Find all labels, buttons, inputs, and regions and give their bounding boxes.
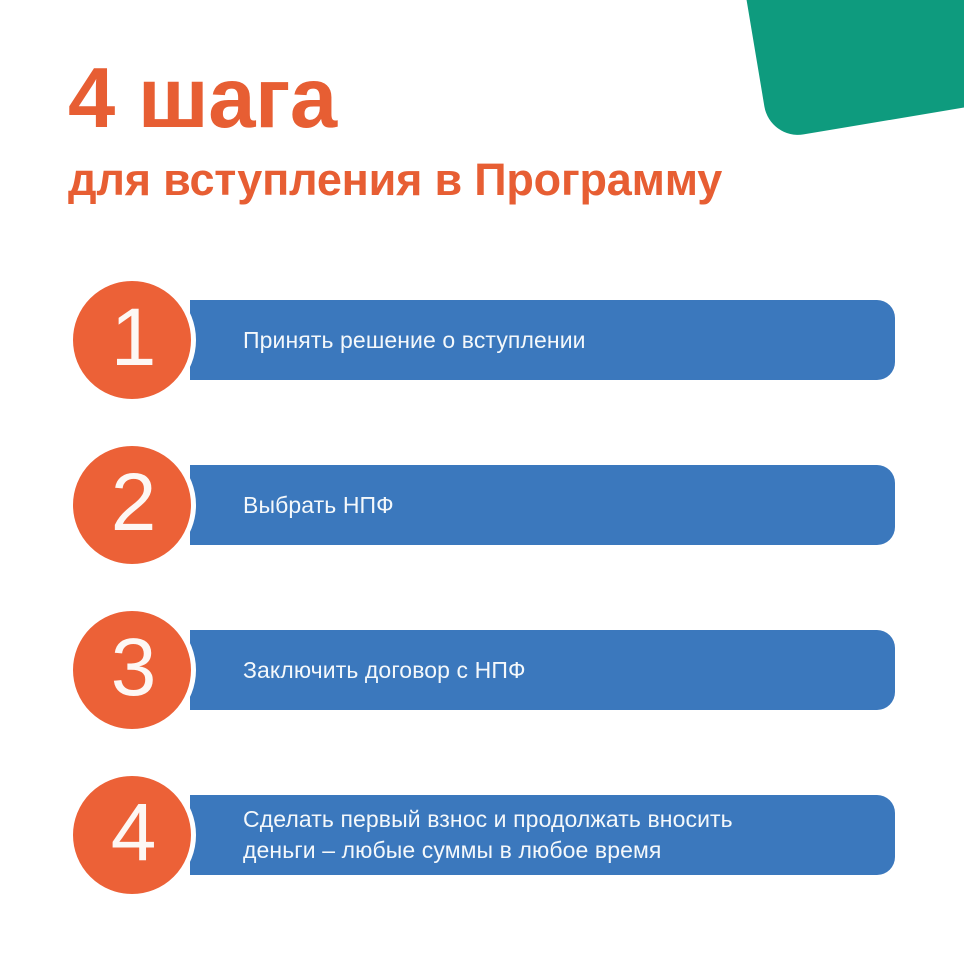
step-number-3: 3 (111, 627, 156, 709)
step-label-1-line1: Принять решение о вступлении (243, 327, 586, 353)
step-badge-4: 4 (68, 771, 196, 899)
step-label-3: Заключить договор с НПФ (243, 655, 526, 686)
infographic-poster: 4 шага для вступления в Программу Принят… (0, 0, 964, 964)
headline-main: 4 шага (68, 58, 888, 140)
step-label-2-line1: Выбрать НПФ (243, 492, 394, 518)
list-item: Принять решение о вступлении 1 (0, 288, 964, 453)
list-item: Выбрать НПФ 2 (0, 453, 964, 618)
step-bar-1: Принять решение о вступлении (190, 300, 895, 380)
step-label-2: Выбрать НПФ (243, 490, 394, 521)
step-number-4: 4 (111, 792, 156, 874)
step-number-1: 1 (111, 297, 156, 379)
list-item: Сделать первый взнос и продолжать вносит… (0, 783, 964, 948)
step-label-3-line1: Заключить договор с НПФ (243, 657, 526, 683)
step-badge-3: 3 (68, 606, 196, 734)
step-label-4-line2: деньги – любые суммы в любое время (243, 835, 733, 866)
page-title: 4 шага для вступления в Программу (68, 58, 888, 203)
step-number-2: 2 (111, 462, 156, 544)
step-bar-4: Сделать первый взнос и продолжать вносит… (190, 795, 895, 875)
step-badge-1: 1 (68, 276, 196, 404)
step-label-1: Принять решение о вступлении (243, 325, 586, 356)
headline-subtitle: для вступления в Программу (68, 156, 888, 203)
step-label-4-line1: Сделать первый взнос и продолжать вносит… (243, 806, 733, 832)
step-badge-2: 2 (68, 441, 196, 569)
step-bar-2: Выбрать НПФ (190, 465, 895, 545)
step-bar-3: Заключить договор с НПФ (190, 630, 895, 710)
list-item: Заключить договор с НПФ 3 (0, 618, 964, 783)
steps-list: Принять решение о вступлении 1 Выбрать Н… (0, 288, 964, 948)
step-label-4: Сделать первый взнос и продолжать вносит… (243, 804, 733, 865)
